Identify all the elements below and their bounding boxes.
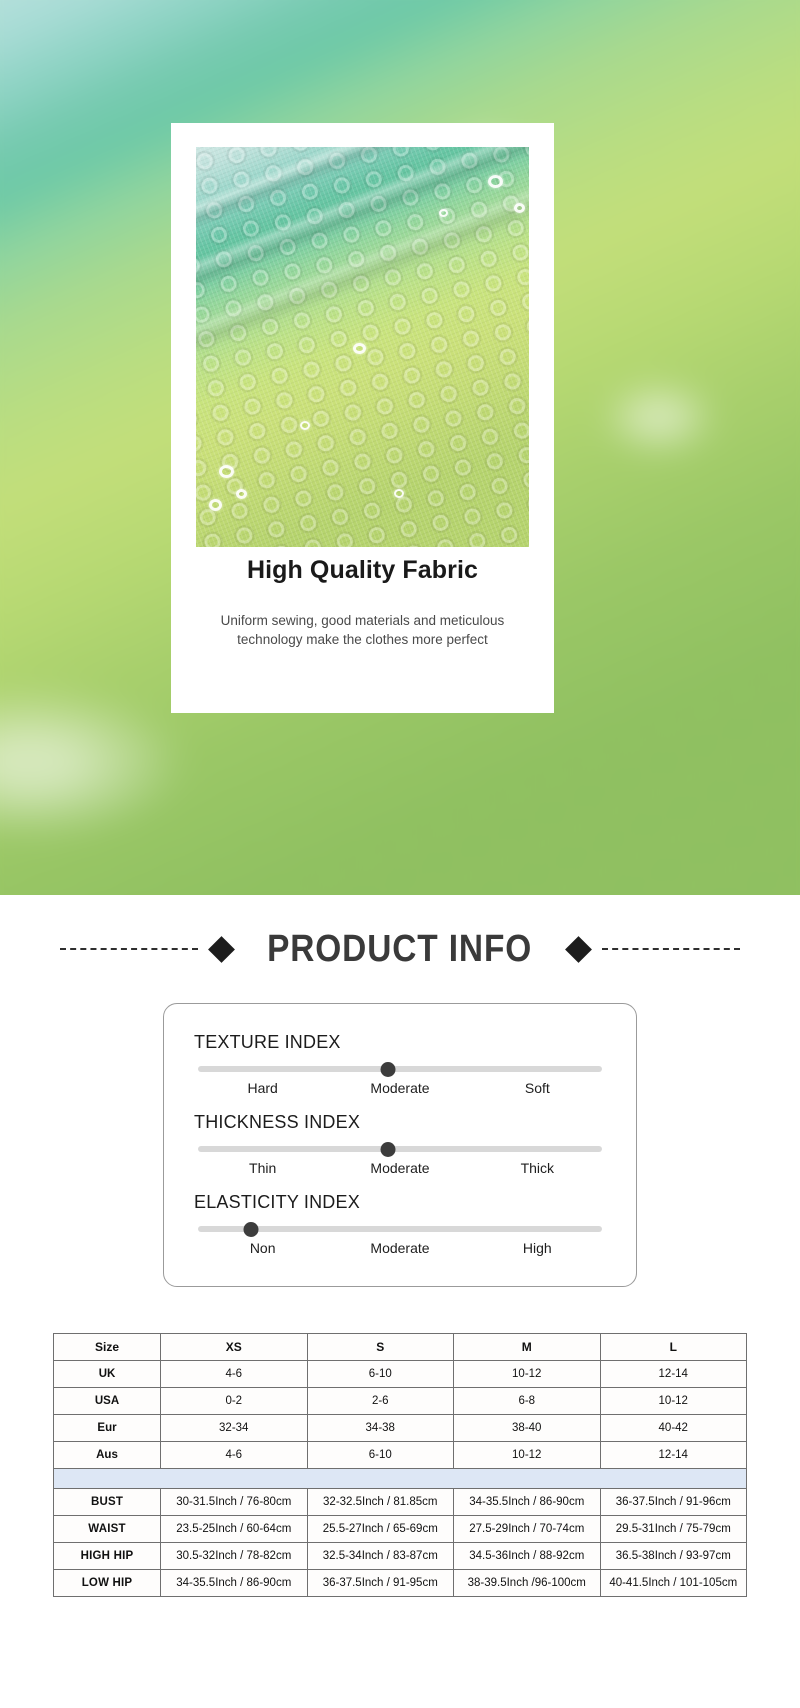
cell-eur-m: 38-40 (454, 1415, 601, 1442)
feature-card-description: Uniform sewing, good materials and metic… (211, 611, 514, 649)
fabric-index-card: TEXTURE INDEX Hard Moderate Soft THICKNE… (163, 1003, 637, 1287)
slider-knob[interactable] (243, 1222, 258, 1237)
product-info-heading: PRODUCT INFO (0, 895, 800, 1003)
cell-eur-s: 34-38 (307, 1415, 454, 1442)
row-label-uk: UK (54, 1361, 161, 1388)
table-header-l: L (600, 1334, 747, 1361)
size-chart-table: Size XS S M L UK 4-6 6-10 10-12 12-14 US… (53, 1333, 747, 1597)
elasticity-index-row: ELASTICITY INDEX Non Moderate High (194, 1192, 606, 1256)
elasticity-index-label: ELASTICITY INDEX (194, 1192, 606, 1213)
fabric-photo (196, 147, 529, 547)
elasticity-option-3: High (469, 1240, 606, 1256)
slider-track (198, 1146, 602, 1152)
thickness-option-1: Thin (194, 1160, 331, 1176)
elasticity-option-1: Non (194, 1240, 331, 1256)
cell-bust-m: 34-35.5Inch / 86-90cm (454, 1489, 601, 1516)
thickness-option-3: Thick (469, 1160, 606, 1176)
slider-track (198, 1226, 602, 1232)
cell-bust-s: 32-32.5Inch / 81.85cm (307, 1489, 454, 1516)
cell-usa-l: 10-12 (600, 1388, 747, 1415)
row-label-high-hip: HIGH HIP (54, 1543, 161, 1570)
table-row: UK 4-6 6-10 10-12 12-14 (54, 1361, 747, 1388)
table-header-s: S (307, 1334, 454, 1361)
dashed-rule-right (602, 948, 740, 950)
table-row: USA 0-2 2-6 6-8 10-12 (54, 1388, 747, 1415)
table-row: Aus 4-6 6-10 10-12 12-14 (54, 1442, 747, 1469)
texture-option-3: Soft (469, 1080, 606, 1096)
page-title: PRODUCT INFO (264, 928, 536, 971)
thickness-option-2: Moderate (331, 1160, 468, 1176)
cell-bust-l: 36-37.5Inch / 91-96cm (600, 1489, 747, 1516)
elasticity-option-2: Moderate (331, 1240, 468, 1256)
row-label-bust: BUST (54, 1489, 161, 1516)
cell-low-hip-m: 38-39.5Inch /96-100cm (454, 1570, 601, 1597)
cell-eur-xs: 32-34 (161, 1415, 308, 1442)
elasticity-index-legend: Non Moderate High (194, 1240, 606, 1256)
cell-bust-xs: 30-31.5Inch / 76-80cm (161, 1489, 308, 1516)
cell-waist-xs: 23.5-25Inch / 60-64cm (161, 1516, 308, 1543)
texture-index-label: TEXTURE INDEX (194, 1032, 606, 1053)
diamond-bullet-right-icon (565, 936, 592, 963)
slider-track (198, 1066, 602, 1072)
elasticity-index-slider[interactable] (198, 1225, 602, 1233)
cell-waist-l: 29.5-31Inch / 75-79cm (600, 1516, 747, 1543)
row-label-low-hip: LOW HIP (54, 1570, 161, 1597)
cell-waist-s: 25.5-27Inch / 65-69cm (307, 1516, 454, 1543)
thickness-index-legend: Thin Moderate Thick (194, 1160, 606, 1176)
thickness-index-row: THICKNESS INDEX Thin Moderate Thick (194, 1112, 606, 1176)
texture-option-2: Moderate (331, 1080, 468, 1096)
cell-low-hip-s: 36-37.5Inch / 91-95cm (307, 1570, 454, 1597)
thickness-index-slider[interactable] (198, 1145, 602, 1153)
cell-high-hip-m: 34.5-36Inch / 88-92cm (454, 1543, 601, 1570)
cell-aus-xs: 4-6 (161, 1442, 308, 1469)
table-row: LOW HIP 34-35.5Inch / 86-90cm 36-37.5Inc… (54, 1570, 747, 1597)
slider-knob[interactable] (380, 1142, 395, 1157)
table-separator-row (54, 1469, 747, 1489)
slider-knob[interactable] (380, 1062, 395, 1077)
sequin-glints (196, 147, 529, 547)
size-chart-section: Size XS S M L UK 4-6 6-10 10-12 12-14 US… (53, 1333, 747, 1597)
hero-banner: High Quality Fabric Uniform sewing, good… (0, 0, 800, 895)
cell-usa-xs: 0-2 (161, 1388, 308, 1415)
cell-waist-m: 27.5-29Inch / 70-74cm (454, 1516, 601, 1543)
cell-aus-m: 10-12 (454, 1442, 601, 1469)
row-label-aus: Aus (54, 1442, 161, 1469)
cell-low-hip-l: 40-41.5Inch / 101-105cm (600, 1570, 747, 1597)
cell-uk-l: 12-14 (600, 1361, 747, 1388)
cell-eur-l: 40-42 (600, 1415, 747, 1442)
cell-high-hip-l: 36.5-38Inch / 93-97cm (600, 1543, 747, 1570)
cell-aus-l: 12-14 (600, 1442, 747, 1469)
table-row: HIGH HIP 30.5-32Inch / 78-82cm 32.5-34In… (54, 1543, 747, 1570)
cell-usa-s: 2-6 (307, 1388, 454, 1415)
table-header-xs: XS (161, 1334, 308, 1361)
cell-uk-xs: 4-6 (161, 1361, 308, 1388)
cell-uk-m: 10-12 (454, 1361, 601, 1388)
dashed-rule-left (60, 948, 198, 950)
texture-index-row: TEXTURE INDEX Hard Moderate Soft (194, 1032, 606, 1096)
table-row: Eur 32-34 34-38 38-40 40-42 (54, 1415, 747, 1442)
cell-aus-s: 6-10 (307, 1442, 454, 1469)
cell-usa-m: 6-8 (454, 1388, 601, 1415)
cell-low-hip-xs: 34-35.5Inch / 86-90cm (161, 1570, 308, 1597)
row-label-eur: Eur (54, 1415, 161, 1442)
table-row: BUST 30-31.5Inch / 76-80cm 32-32.5Inch /… (54, 1489, 747, 1516)
cell-uk-s: 6-10 (307, 1361, 454, 1388)
texture-option-1: Hard (194, 1080, 331, 1096)
fabric-index-section: TEXTURE INDEX Hard Moderate Soft THICKNE… (0, 1003, 800, 1287)
texture-index-legend: Hard Moderate Soft (194, 1080, 606, 1096)
diamond-bullet-left-icon (208, 936, 235, 963)
row-label-usa: USA (54, 1388, 161, 1415)
cell-high-hip-xs: 30.5-32Inch / 78-82cm (161, 1543, 308, 1570)
table-header-row: Size XS S M L (54, 1334, 747, 1361)
feature-card: High Quality Fabric Uniform sewing, good… (171, 123, 554, 713)
feature-card-title: High Quality Fabric (171, 556, 554, 585)
table-row: WAIST 23.5-25Inch / 60-64cm 25.5-27Inch … (54, 1516, 747, 1543)
cell-high-hip-s: 32.5-34Inch / 83-87cm (307, 1543, 454, 1570)
thickness-index-label: THICKNESS INDEX (194, 1112, 606, 1133)
texture-index-slider[interactable] (198, 1065, 602, 1073)
table-header-size: Size (54, 1334, 161, 1361)
table-header-m: M (454, 1334, 601, 1361)
row-label-waist: WAIST (54, 1516, 161, 1543)
